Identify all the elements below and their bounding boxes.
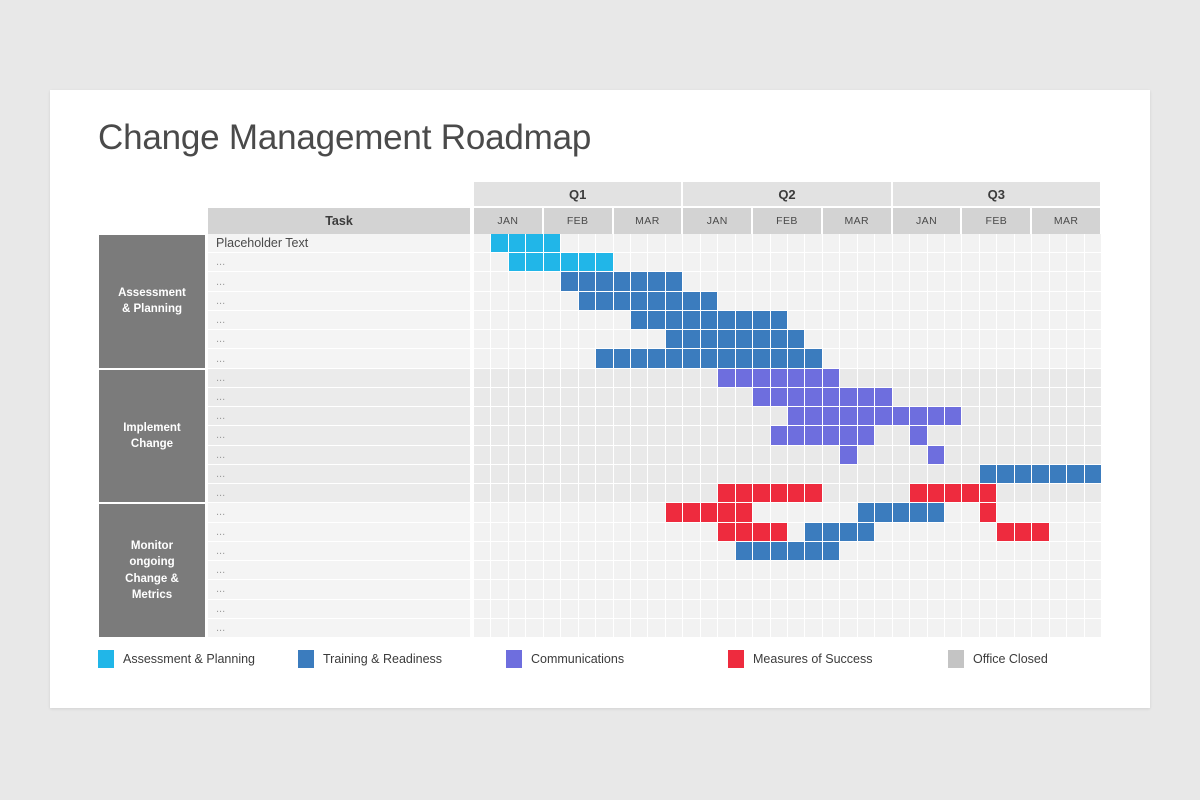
gantt-bar-cell-train[interactable]: [596, 349, 613, 368]
gantt-empty-cell: [491, 311, 508, 330]
task-row-label[interactable]: ...: [208, 272, 472, 291]
gantt-empty-cell: [509, 619, 526, 638]
gantt-empty-cell: [805, 234, 822, 253]
gantt-bar-cell-assess[interactable]: [544, 234, 561, 253]
gantt-bar-cell-success[interactable]: [753, 484, 770, 503]
gantt-bar-cell-train[interactable]: [736, 542, 753, 561]
gantt-bar-cell-train[interactable]: [840, 523, 857, 542]
gantt-bar-cell-train[interactable]: [666, 330, 683, 349]
gantt-empty-cell: [771, 619, 788, 638]
gantt-empty-cell: [1050, 542, 1067, 561]
gantt-bar-cell-comms[interactable]: [928, 407, 945, 426]
gantt-empty-cell: [596, 311, 613, 330]
gantt-empty-cell: [997, 619, 1014, 638]
gantt-empty-cell: [893, 446, 910, 465]
gantt-bar-cell-success[interactable]: [1015, 523, 1032, 542]
gantt-empty-cell: [509, 465, 526, 484]
gantt-bar-cell-comms[interactable]: [928, 446, 945, 465]
gantt-empty-cell: [1050, 561, 1067, 580]
legend-item-comms[interactable]: Communications: [506, 650, 624, 668]
gantt-bar-cell-success[interactable]: [997, 523, 1014, 542]
gantt-empty-cell: [614, 465, 631, 484]
gantt-bar-cell-train[interactable]: [666, 311, 683, 330]
gantt-empty-cell: [840, 561, 857, 580]
gantt-empty-cell: [474, 619, 491, 638]
gantt-empty-cell: [614, 580, 631, 599]
gantt-bar-cell-assess[interactable]: [491, 234, 508, 253]
gantt-bar-cell-assess[interactable]: [526, 253, 543, 272]
gantt-empty-cell: [526, 484, 543, 503]
gantt-empty-cell: [805, 446, 822, 465]
gantt-bar-cell-train[interactable]: [753, 349, 770, 368]
gantt-bar-cell-success[interactable]: [1032, 523, 1049, 542]
gantt-empty-cell: [683, 272, 700, 291]
gantt-bar-cell-comms[interactable]: [788, 388, 805, 407]
gantt-empty-cell: [1067, 292, 1084, 311]
legend-item-assess[interactable]: Assessment & Planning: [98, 650, 255, 668]
gantt-bar-cell-train[interactable]: [753, 311, 770, 330]
gantt-empty-cell: [1050, 484, 1067, 503]
gantt-empty-cell: [875, 349, 892, 368]
task-row-label[interactable]: ...: [208, 503, 472, 522]
gantt-empty-cell: [631, 484, 648, 503]
gantt-empty-cell: [631, 253, 648, 272]
gantt-empty-cell: [614, 253, 631, 272]
gantt-empty-cell: [1085, 484, 1102, 503]
gantt-empty-cell: [1032, 426, 1049, 445]
gantt-empty-cell: [718, 426, 735, 445]
gantt-empty-cell: [561, 407, 578, 426]
gantt-bar-cell-comms[interactable]: [893, 407, 910, 426]
task-row-label[interactable]: ...: [208, 349, 472, 368]
gantt-bar-cell-comms[interactable]: [840, 407, 857, 426]
gantt-empty-cell: [945, 542, 962, 561]
gantt-bar-cell-comms[interactable]: [805, 369, 822, 388]
gantt-empty-cell: [526, 369, 543, 388]
gantt-empty-cell: [962, 580, 979, 599]
gantt-empty-cell: [631, 330, 648, 349]
task-row-label[interactable]: ...: [208, 426, 472, 445]
gantt-empty-cell: [1015, 542, 1032, 561]
gantt-empty-cell: [474, 503, 491, 522]
gantt-bar-cell-comms[interactable]: [823, 388, 840, 407]
phase-label-3: MonitorongoingChange &Metrics: [98, 503, 206, 638]
gantt-empty-cell: [893, 311, 910, 330]
gantt-bar-cell-success[interactable]: [928, 484, 945, 503]
legend-item-train[interactable]: Training & Readiness: [298, 650, 442, 668]
gantt-empty-cell: [875, 465, 892, 484]
gantt-bar-cell-train[interactable]: [614, 292, 631, 311]
month-header-q3-mar: MAR: [1032, 208, 1102, 234]
gantt-empty-cell: [474, 446, 491, 465]
gantt-empty-cell: [928, 600, 945, 619]
gantt-empty-cell: [736, 465, 753, 484]
gantt-empty-cell: [805, 330, 822, 349]
gantt-empty-cell: [910, 600, 927, 619]
gantt-empty-cell: [1015, 311, 1032, 330]
gantt-empty-cell: [875, 369, 892, 388]
gantt-empty-cell: [840, 600, 857, 619]
gantt-empty-cell: [491, 407, 508, 426]
gantt-bar-cell-comms[interactable]: [823, 426, 840, 445]
gantt-bar-cell-train[interactable]: [631, 272, 648, 291]
gantt-bar-cell-train[interactable]: [596, 272, 613, 291]
gantt-bar-cell-train[interactable]: [1050, 465, 1067, 484]
gantt-bar-cell-comms[interactable]: [858, 388, 875, 407]
gantt-bar-cell-comms[interactable]: [805, 388, 822, 407]
gantt-empty-cell: [893, 619, 910, 638]
task-row-label[interactable]: ...: [208, 446, 472, 465]
gantt-empty-cell: [840, 542, 857, 561]
gantt-empty-cell: [544, 349, 561, 368]
gantt-bar-cell-train[interactable]: [805, 542, 822, 561]
gantt-empty-cell: [1067, 446, 1084, 465]
gantt-empty-cell: [910, 349, 927, 368]
gantt-bar-cell-comms[interactable]: [753, 369, 770, 388]
gantt-bar-cell-train[interactable]: [1032, 465, 1049, 484]
gantt-empty-cell: [579, 407, 596, 426]
gantt-empty-cell: [509, 446, 526, 465]
gantt-bar-cell-comms[interactable]: [805, 426, 822, 445]
gantt-bar-cell-train[interactable]: [614, 272, 631, 291]
gantt-empty-cell: [648, 542, 665, 561]
gantt-bar-cell-comms[interactable]: [718, 369, 735, 388]
gantt-bar-cell-train[interactable]: [823, 542, 840, 561]
gantt-empty-cell: [1085, 426, 1102, 445]
gantt-bar-cell-success[interactable]: [771, 523, 788, 542]
gantt-bar-cell-train[interactable]: [648, 292, 665, 311]
gantt-empty-cell: [875, 272, 892, 291]
gantt-bar-cell-train[interactable]: [718, 311, 735, 330]
gantt-bar-cell-comms[interactable]: [788, 369, 805, 388]
gantt-empty-cell: [788, 619, 805, 638]
gantt-empty-cell: [1085, 600, 1102, 619]
gantt-empty-cell: [858, 311, 875, 330]
gantt-bar-cell-train[interactable]: [788, 542, 805, 561]
gantt-empty-cell: [526, 465, 543, 484]
task-row-label[interactable]: Placeholder Text: [208, 234, 472, 253]
gantt-bar-cell-assess[interactable]: [544, 253, 561, 272]
gantt-empty-cell: [474, 311, 491, 330]
gantt-empty-cell: [579, 580, 596, 599]
gantt-empty-cell: [945, 600, 962, 619]
gantt-bar-cell-train[interactable]: [683, 330, 700, 349]
gantt-bar-cell-train[interactable]: [561, 272, 578, 291]
gantt-bar-cell-train[interactable]: [1015, 465, 1032, 484]
gantt-empty-cell: [596, 580, 613, 599]
gantt-bar-cell-train[interactable]: [753, 330, 770, 349]
gantt-bar-cell-train[interactable]: [683, 292, 700, 311]
gantt-empty-cell: [1067, 272, 1084, 291]
gantt-bar-cell-train[interactable]: [858, 503, 875, 522]
gantt-empty-cell: [666, 426, 683, 445]
gantt-bar-cell-success[interactable]: [701, 503, 718, 522]
gantt-bar-cell-train[interactable]: [1085, 465, 1102, 484]
gantt-empty-cell: [718, 619, 735, 638]
gantt-empty-cell: [561, 330, 578, 349]
gantt-empty-cell: [526, 600, 543, 619]
gantt-bar-cell-comms[interactable]: [788, 426, 805, 445]
gantt-bar-cell-train[interactable]: [648, 272, 665, 291]
gantt-bar-cell-train[interactable]: [718, 349, 735, 368]
gantt-empty-cell: [561, 503, 578, 522]
gantt-empty-cell: [491, 580, 508, 599]
gantt-bar-cell-success[interactable]: [980, 503, 997, 522]
gantt-empty-cell: [509, 542, 526, 561]
gantt-bar-cell-comms[interactable]: [910, 426, 927, 445]
month-header-q3-jan: JAN: [893, 208, 963, 234]
gantt-bar-cell-train[interactable]: [579, 292, 596, 311]
slide-canvas: Change Management Roadmap Q1JANFEBMARQ2J…: [50, 90, 1150, 708]
gantt-bar-cell-assess[interactable]: [561, 253, 578, 272]
gantt-bar-cell-comms[interactable]: [840, 446, 857, 465]
gantt-bar-cell-train[interactable]: [596, 292, 613, 311]
legend-item-success[interactable]: Measures of Success: [728, 650, 873, 668]
task-row-label[interactable]: ...: [208, 253, 472, 272]
gantt-empty-cell: [823, 619, 840, 638]
gantt-bar-cell-success[interactable]: [683, 503, 700, 522]
gantt-bar-cell-train[interactable]: [893, 503, 910, 522]
gantt-bar-cell-comms[interactable]: [823, 369, 840, 388]
gantt-bar-cell-train[interactable]: [736, 311, 753, 330]
gantt-empty-cell: [1050, 330, 1067, 349]
gantt-bar-cell-comms[interactable]: [823, 407, 840, 426]
quarter-header-q1: Q1: [474, 182, 683, 206]
gantt-empty-cell: [579, 349, 596, 368]
gantt-empty-cell: [928, 426, 945, 445]
gantt-empty-cell: [596, 234, 613, 253]
gantt-bar-cell-assess[interactable]: [509, 253, 526, 272]
gantt-empty-cell: [1050, 272, 1067, 291]
task-row-label[interactable]: ...: [208, 542, 472, 561]
gantt-empty-cell: [1032, 253, 1049, 272]
gantt-empty-cell: [997, 426, 1014, 445]
gantt-bar-cell-comms[interactable]: [771, 426, 788, 445]
gantt-bar-cell-train[interactable]: [980, 465, 997, 484]
gantt-bar-cell-train[interactable]: [997, 465, 1014, 484]
gantt-empty-cell: [561, 523, 578, 542]
gantt-bar-cell-train[interactable]: [614, 349, 631, 368]
gantt-empty-cell: [945, 292, 962, 311]
gantt-bar-cell-train[interactable]: [771, 349, 788, 368]
gantt-bar-cell-success[interactable]: [736, 484, 753, 503]
task-row-label[interactable]: ...: [208, 561, 472, 580]
gantt-bar-cell-assess[interactable]: [596, 253, 613, 272]
gantt-empty-cell: [1085, 542, 1102, 561]
gantt-bar-cell-success[interactable]: [910, 484, 927, 503]
gantt-bar-cell-comms[interactable]: [840, 388, 857, 407]
gantt-empty-cell: [823, 234, 840, 253]
gantt-bar-cell-assess[interactable]: [526, 234, 543, 253]
gantt-bar-cell-success[interactable]: [753, 523, 770, 542]
gantt-bar-cell-comms[interactable]: [788, 407, 805, 426]
gantt-bar-cell-train[interactable]: [648, 311, 665, 330]
gantt-bar-cell-train[interactable]: [928, 503, 945, 522]
gantt-empty-cell: [997, 600, 1014, 619]
task-row-label[interactable]: ...: [208, 369, 472, 388]
gantt-bar-cell-train[interactable]: [858, 523, 875, 542]
gantt-bar-cell-success[interactable]: [718, 484, 735, 503]
gantt-bar-cell-train[interactable]: [579, 272, 596, 291]
gantt-empty-cell: [1015, 349, 1032, 368]
gantt-bar-cell-success[interactable]: [718, 523, 735, 542]
gantt-bar-cell-comms[interactable]: [736, 369, 753, 388]
gantt-empty-cell: [823, 446, 840, 465]
gantt-empty-cell: [997, 234, 1014, 253]
gantt-bar-cell-train[interactable]: [701, 330, 718, 349]
gantt-empty-cell: [788, 446, 805, 465]
gantt-bar-cell-comms[interactable]: [753, 388, 770, 407]
gantt-bar-cell-train[interactable]: [910, 503, 927, 522]
gantt-bar-cell-train[interactable]: [736, 349, 753, 368]
gantt-empty-cell: [718, 465, 735, 484]
legend-swatch-assess: [98, 650, 114, 668]
gantt-empty-cell: [509, 311, 526, 330]
gantt-empty-cell: [805, 561, 822, 580]
gantt-empty-cell: [561, 349, 578, 368]
gantt-bar-cell-train[interactable]: [683, 349, 700, 368]
task-row-label[interactable]: ...: [208, 523, 472, 542]
legend-label-train: Training & Readiness: [323, 652, 442, 666]
gantt-bar-cell-assess[interactable]: [579, 253, 596, 272]
gantt-bar-cell-train[interactable]: [701, 311, 718, 330]
gantt-bar-cell-train[interactable]: [666, 292, 683, 311]
task-row-label[interactable]: ...: [208, 292, 472, 311]
gantt-bar-cell-success[interactable]: [980, 484, 997, 503]
gantt-empty-cell: [1015, 272, 1032, 291]
gantt-bar-cell-train[interactable]: [771, 542, 788, 561]
gantt-bar-cell-train[interactable]: [753, 542, 770, 561]
gantt-empty-cell: [980, 311, 997, 330]
gantt-empty-cell: [1032, 349, 1049, 368]
task-row-label[interactable]: ...: [208, 330, 472, 349]
gantt-empty-cell: [648, 234, 665, 253]
task-row-label[interactable]: ...: [208, 619, 472, 638]
gantt-empty-cell: [474, 600, 491, 619]
gantt-bar-cell-comms[interactable]: [771, 369, 788, 388]
gantt-empty-cell: [648, 330, 665, 349]
gantt-empty-cell: [631, 407, 648, 426]
task-row-label[interactable]: ...: [208, 580, 472, 599]
gantt-empty-cell: [736, 234, 753, 253]
gantt-bar-cell-train[interactable]: [875, 503, 892, 522]
gantt-bar-cell-train[interactable]: [683, 311, 700, 330]
gantt-empty-cell: [910, 369, 927, 388]
gantt-empty-cell: [509, 503, 526, 522]
gantt-empty-cell: [614, 426, 631, 445]
gantt-bar-cell-train[interactable]: [736, 330, 753, 349]
task-row-label[interactable]: ...: [208, 600, 472, 619]
gantt-empty-cell: [823, 311, 840, 330]
gantt-empty-cell: [544, 523, 561, 542]
gantt-empty-cell: [561, 369, 578, 388]
gantt-bar-cell-success[interactable]: [805, 484, 822, 503]
gantt-bar-cell-comms[interactable]: [771, 388, 788, 407]
gantt-bar-cell-train[interactable]: [788, 330, 805, 349]
gantt-empty-cell: [614, 446, 631, 465]
gantt-empty-cell: [509, 600, 526, 619]
gantt-empty-cell: [718, 234, 735, 253]
gantt-empty-cell: [596, 542, 613, 561]
gantt-empty-cell: [631, 446, 648, 465]
gantt-empty-cell: [491, 272, 508, 291]
task-row-label[interactable]: ...: [208, 484, 472, 503]
gantt-bar-cell-train[interactable]: [805, 349, 822, 368]
gantt-empty-cell: [526, 388, 543, 407]
gantt-empty-cell: [928, 330, 945, 349]
gantt-empty-cell: [491, 465, 508, 484]
gantt-bar-cell-train[interactable]: [666, 349, 683, 368]
gantt-empty-cell: [980, 272, 997, 291]
gantt-bar-cell-train[interactable]: [648, 349, 665, 368]
gantt-bar-cell-success[interactable]: [718, 503, 735, 522]
task-row-label[interactable]: ...: [208, 465, 472, 484]
gantt-empty-cell: [771, 600, 788, 619]
gantt-bar-cell-train[interactable]: [631, 292, 648, 311]
gantt-bar-cell-assess[interactable]: [509, 234, 526, 253]
gantt-bar-cell-comms[interactable]: [910, 407, 927, 426]
gantt-bar-cell-success[interactable]: [788, 484, 805, 503]
gantt-bar-cell-comms[interactable]: [945, 407, 962, 426]
gantt-empty-cell: [980, 426, 997, 445]
gantt-bar-cell-comms[interactable]: [858, 407, 875, 426]
gantt-bar-cell-comms[interactable]: [875, 388, 892, 407]
gantt-empty-cell: [1085, 523, 1102, 542]
gantt-bar-cell-comms[interactable]: [875, 407, 892, 426]
gantt-empty-cell: [823, 330, 840, 349]
gantt-bar-cell-comms[interactable]: [805, 407, 822, 426]
gantt-empty-cell: [823, 580, 840, 599]
gantt-bar-cell-success[interactable]: [736, 503, 753, 522]
gantt-bar-cell-success[interactable]: [736, 523, 753, 542]
gantt-empty-cell: [875, 446, 892, 465]
gantt-empty-cell: [596, 426, 613, 445]
gantt-empty-cell: [561, 292, 578, 311]
gantt-empty-cell: [1067, 523, 1084, 542]
gantt-empty-cell: [753, 272, 770, 291]
task-row-label[interactable]: ...: [208, 311, 472, 330]
gantt-bar-cell-train[interactable]: [805, 523, 822, 542]
gantt-bar-cell-train[interactable]: [701, 349, 718, 368]
gantt-bar-cell-train[interactable]: [631, 311, 648, 330]
gantt-bar-cell-train[interactable]: [701, 292, 718, 311]
gantt-empty-cell: [1050, 503, 1067, 522]
task-row-label[interactable]: ...: [208, 407, 472, 426]
gantt-bar-cell-train[interactable]: [718, 330, 735, 349]
gantt-bar-cell-train[interactable]: [631, 349, 648, 368]
gantt-empty-cell: [631, 600, 648, 619]
gantt-bar-cell-comms[interactable]: [858, 426, 875, 445]
gantt-empty-cell: [858, 272, 875, 291]
gantt-bar-cell-train[interactable]: [823, 523, 840, 542]
gantt-bar-cell-success[interactable]: [771, 484, 788, 503]
gantt-bar-cell-train[interactable]: [771, 311, 788, 330]
legend-item-closed[interactable]: Office Closed: [948, 650, 1048, 668]
gantt-bar-cell-success[interactable]: [945, 484, 962, 503]
gantt-bar-cell-success[interactable]: [666, 503, 683, 522]
gantt-bar-cell-train[interactable]: [1067, 465, 1084, 484]
gantt-empty-cell: [1050, 311, 1067, 330]
task-row-label[interactable]: ...: [208, 388, 472, 407]
gantt-bar-cell-comms[interactable]: [840, 426, 857, 445]
gantt-bar-cell-train[interactable]: [788, 349, 805, 368]
gantt-empty-cell: [753, 561, 770, 580]
gantt-bar-cell-success[interactable]: [962, 484, 979, 503]
gantt-empty-cell: [701, 561, 718, 580]
gantt-empty-cell: [753, 619, 770, 638]
gantt-bar-cell-train[interactable]: [771, 330, 788, 349]
gantt-bar-cell-train[interactable]: [666, 272, 683, 291]
